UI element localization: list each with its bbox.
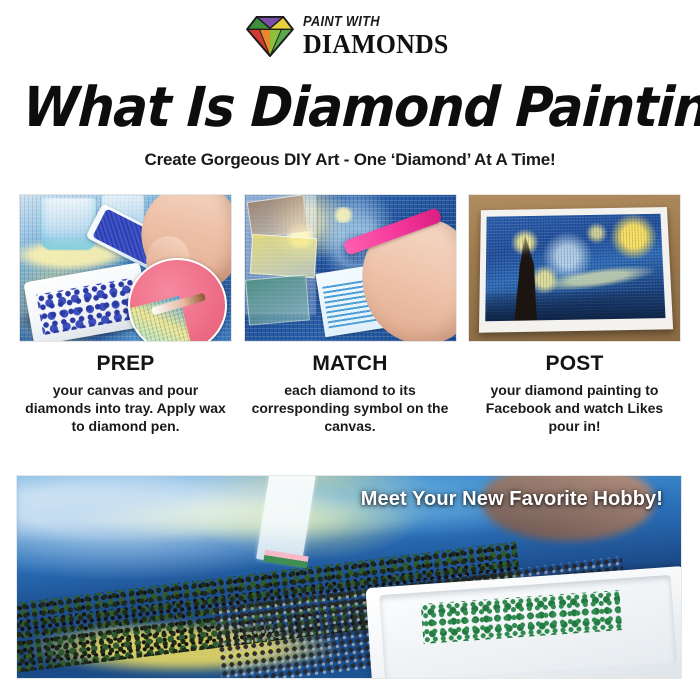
brand-wordmark: PAINT WITH DIAMONDS [303,14,455,58]
step-prep-body: your canvas and pour diamonds into tray.… [19,381,232,435]
step-photo-row [19,194,681,342]
step-match-title: MATCH [244,352,457,376]
post-painting-hills [485,290,666,321]
brand-logo: PAINT WITH DIAMONDS [0,14,700,58]
diamond-gem-icon [246,15,294,57]
step-caption-row: PREP your canvas and pour diamonds into … [19,352,681,435]
brand-line-1: PAINT WITH [303,14,380,29]
post-photo [469,195,680,341]
step-match-body: each diamond to its corresponding symbol… [244,381,457,435]
match-canvas-star-b [331,207,356,223]
page-subtitle: Create Gorgeous DIY Art - One ‘Diamond’ … [0,150,700,170]
step-post-title: POST [468,352,681,376]
step-prep-title: PREP [19,352,232,376]
match-drill-bag-a [246,195,307,239]
step-post-body: your diamond painting to Facebook and wa… [468,381,681,435]
hero-banner: Meet Your New Favorite Hobby! [16,475,682,679]
prep-inset-circle [128,258,227,341]
step-photo-match [244,194,457,342]
step-photo-post [468,194,681,342]
brand-line-2: DIAMONDS [303,31,449,58]
prep-jar-a [41,198,96,251]
page-title: What Is Diamond Painting? [21,76,675,138]
post-finished-painting [485,214,666,322]
prep-photo [20,195,231,341]
step-match: MATCH each diamond to its corresponding … [244,352,457,435]
infographic-page: PAINT WITH DIAMONDS What Is Diamond Pain… [0,0,700,700]
step-photo-prep [19,194,232,342]
banner-headline: Meet Your New Favorite Hobby! [361,488,663,511]
match-photo [245,195,456,341]
match-drill-bag-b [250,234,318,278]
step-prep: PREP your canvas and pour diamonds into … [19,352,232,435]
step-post: POST your diamond painting to Facebook a… [468,352,681,435]
match-drill-bag-c [245,274,310,325]
